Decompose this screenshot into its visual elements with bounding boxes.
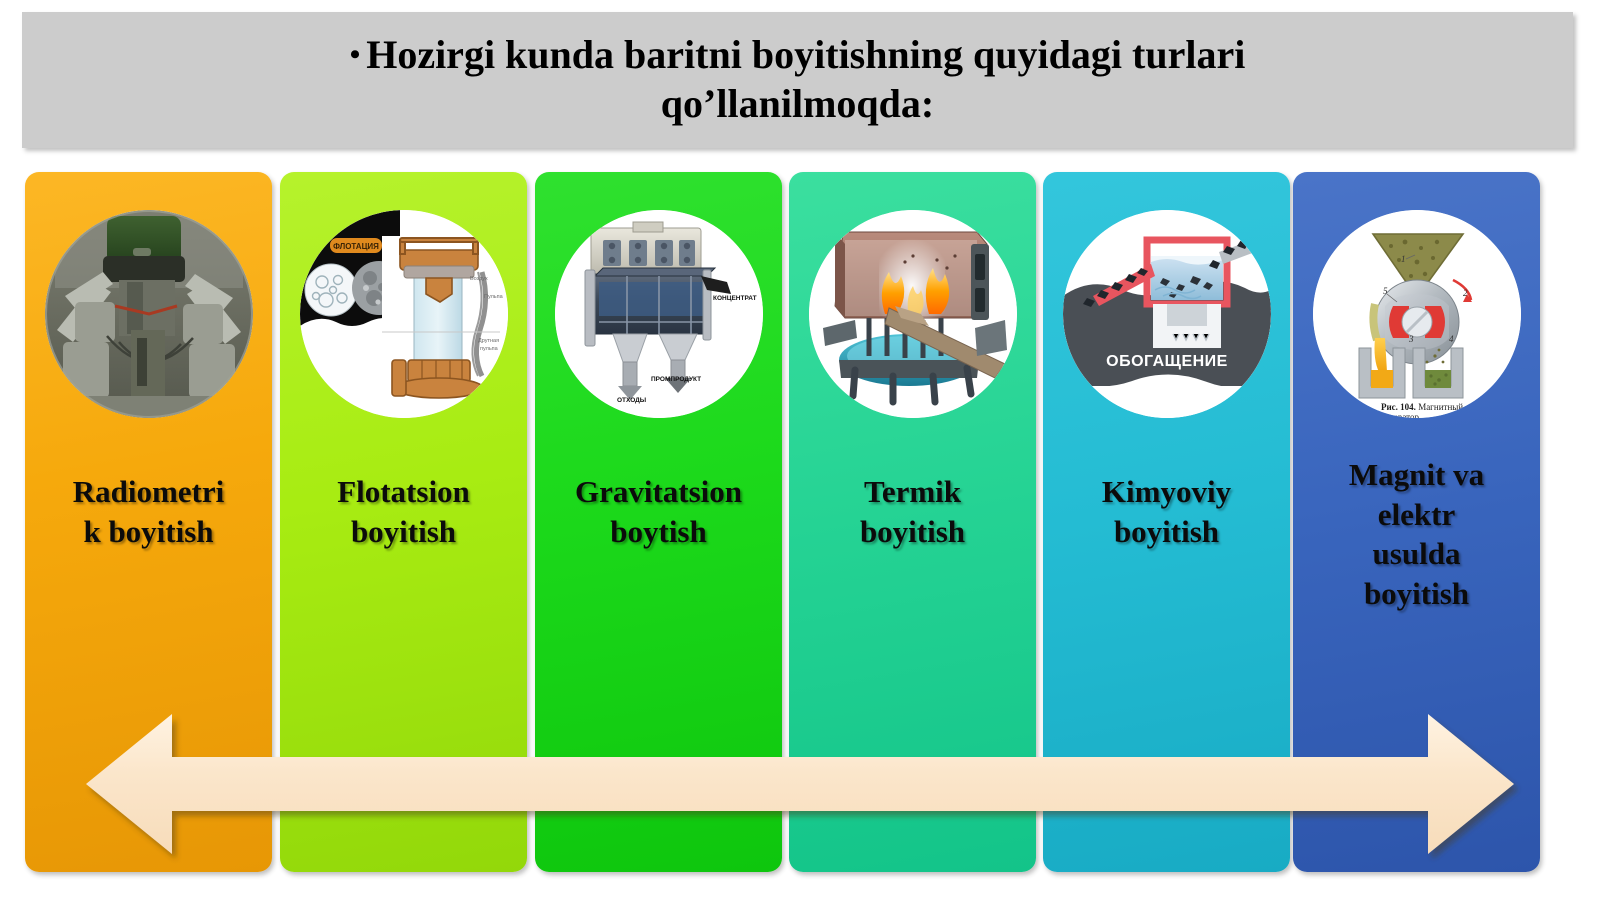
card-termik[interactable]: Termik boyitish [789, 172, 1036, 872]
title-line-2: qo’llanilmoqda: [661, 81, 934, 126]
svg-text:Друтная: Друтная [478, 338, 499, 344]
svg-text:4: 4 [1449, 334, 1454, 344]
card-magnit-elektr[interactable]: 1 2 3 4 5 Рис. 104. Магнитный [1293, 172, 1540, 872]
svg-text:1: 1 [1401, 254, 1406, 264]
card-gravitatsion[interactable]: КОНЦЕНТРАТ ПРОМПРОДУКТ ОТХОДЫ Gravitatsi… [535, 172, 782, 872]
bullet-glyph: • [350, 38, 367, 71]
label-line-1: Gravitatsion [575, 474, 742, 509]
label-line-1: Radiometri [73, 474, 225, 509]
card-kimyoviy[interactable]: ОБОГАЩЕНИЕ Kimyoviy boyitish [1043, 172, 1290, 872]
title-bar: •Hozirgi kunda baritni boyitishning quyi… [22, 12, 1573, 148]
label-line-2: boytish [610, 514, 706, 549]
card-radiometrik[interactable]: Radiometri k boyitish [25, 172, 272, 872]
svg-text:сепаратор: сепаратор [1381, 412, 1419, 418]
svg-text:ФЛОТАЦИЯ: ФЛОТАЦИЯ [333, 242, 379, 251]
svg-text:Рис. 104. Магнитный: Рис. 104. Магнитный [1381, 402, 1463, 412]
label-line-1: Magnit va [1349, 457, 1484, 492]
label-line-4: boyitish [1364, 576, 1469, 611]
magnetic-separator-diagram-icon: 1 2 3 4 5 Рис. 104. Магнитный [1313, 210, 1521, 418]
jig-concentrator-photo-icon: КОНЦЕНТРАТ ПРОМПРОДУКТ ОТХОДЫ [555, 210, 763, 418]
card-label-gravitatsion: Gravitatsion boytish [545, 472, 772, 551]
flotation-column-diagram-icon: ФЛОТАЦИЯ [300, 210, 508, 418]
card-flotatsion[interactable]: ФЛОТАЦИЯ [280, 172, 527, 872]
svg-text:КОНЦЕНТРАТ: КОНЦЕНТРАТ [713, 295, 757, 302]
card-label-termik: Termik boyitish [799, 472, 1026, 551]
svg-text:ОТХОДЫ: ОТХОДЫ [617, 397, 646, 404]
card-label-kimyoviy: Kimyoviy boyitish [1053, 472, 1280, 551]
roasting-furnace-illustration-icon [809, 210, 1017, 418]
label-line-2: k boyitish [83, 514, 213, 549]
label-line-1: Kimyoviy [1102, 474, 1231, 509]
svg-text:пульпа: пульпа [480, 346, 499, 352]
label-line-2: boyitish [1114, 514, 1219, 549]
svg-text:ПРОМПРОДУКТ: ПРОМПРОДУКТ [651, 376, 701, 383]
label-line-2: boyitish [860, 514, 965, 549]
svg-text:ОБОГАЩЕНИЕ: ОБОГАЩЕНИЕ [1106, 353, 1228, 370]
svg-text:2: 2 [1463, 288, 1468, 298]
label-line-1: Termik [864, 474, 961, 509]
svg-text:Пульпа: Пульпа [484, 294, 504, 300]
label-line-1: Flotatsion [337, 474, 470, 509]
radiometric-sorter-photo-icon [45, 210, 253, 418]
svg-text:Воздух: Воздух [470, 276, 488, 282]
title-line-1: Hozirgi kunda baritni boyitishning quyid… [366, 32, 1245, 77]
slide-canvas: •Hozirgi kunda baritni boyitishning quyi… [0, 0, 1600, 899]
chemical-leaching-tank-illustration-icon: ОБОГАЩЕНИЕ [1063, 210, 1271, 418]
page-title: •Hozirgi kunda baritni boyitishning quyi… [98, 31, 1498, 129]
label-line-2: elektr [1378, 497, 1455, 532]
card-label-flotatsion: Flotatsion boyitish [290, 472, 517, 551]
svg-text:3: 3 [1408, 334, 1414, 344]
card-label-magnit-elektr: Magnit va elektr usulda boyitish [1303, 455, 1530, 614]
label-line-3: usulda [1373, 536, 1461, 571]
card-label-radiometrik: Radiometri k boyitish [35, 472, 262, 551]
label-line-2: boyitish [351, 514, 456, 549]
method-card-row: Radiometri k boyitish [0, 172, 1600, 872]
